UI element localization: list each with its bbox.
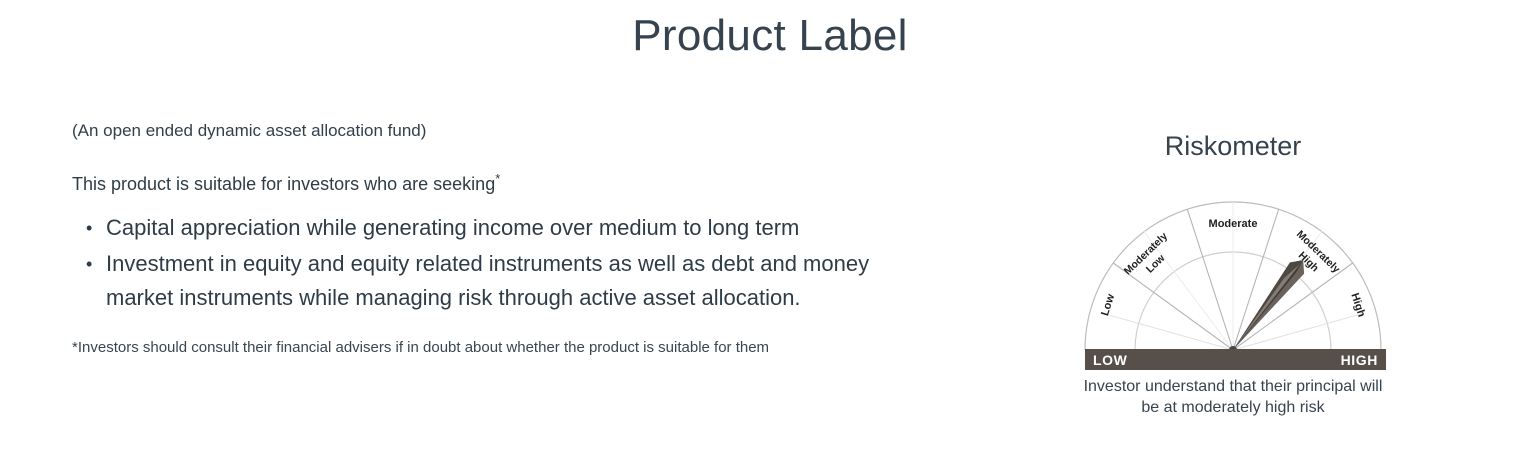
gauge-svg: Low Moderately Low Moderate Moderately H…: [1080, 178, 1386, 370]
gauge-scale-high-label: HIGH: [1341, 352, 1378, 368]
product-label-content: (An open ended dynamic asset allocation …: [72, 118, 902, 374]
fund-type-subtitle: (An open ended dynamic asset allocation …: [72, 118, 902, 144]
suitability-lead: This product is suitable for investors w…: [72, 166, 902, 197]
list-item: Capital appreciation while generating in…: [106, 211, 902, 245]
gauge-label-moderate: Moderate: [1209, 218, 1258, 230]
riskometer-gauge: Low Moderately Low Moderate Moderately H…: [1080, 178, 1386, 370]
page-title: Product Label: [0, 8, 1540, 64]
gauge-scale-bar: LOW HIGH: [1085, 349, 1386, 370]
riskometer-caption: Investor understand that their principal…: [1080, 376, 1386, 418]
list-item: Investment in equity and equity related …: [106, 247, 902, 315]
footnote-disclaimer: *Investors should consult their financia…: [72, 337, 902, 359]
suitability-lead-text: This product is suitable for investors w…: [72, 174, 495, 194]
gauge-scale-low-label: LOW: [1093, 352, 1127, 368]
suitability-bullet-list: Capital appreciation while generating in…: [72, 211, 902, 315]
gauge-label-moderate-line1: Moderate: [1209, 218, 1258, 230]
riskometer-panel: Riskometer Low: [1080, 128, 1392, 418]
riskometer-heading: Riskometer: [1080, 128, 1386, 164]
lead-asterisk: *: [495, 171, 500, 186]
